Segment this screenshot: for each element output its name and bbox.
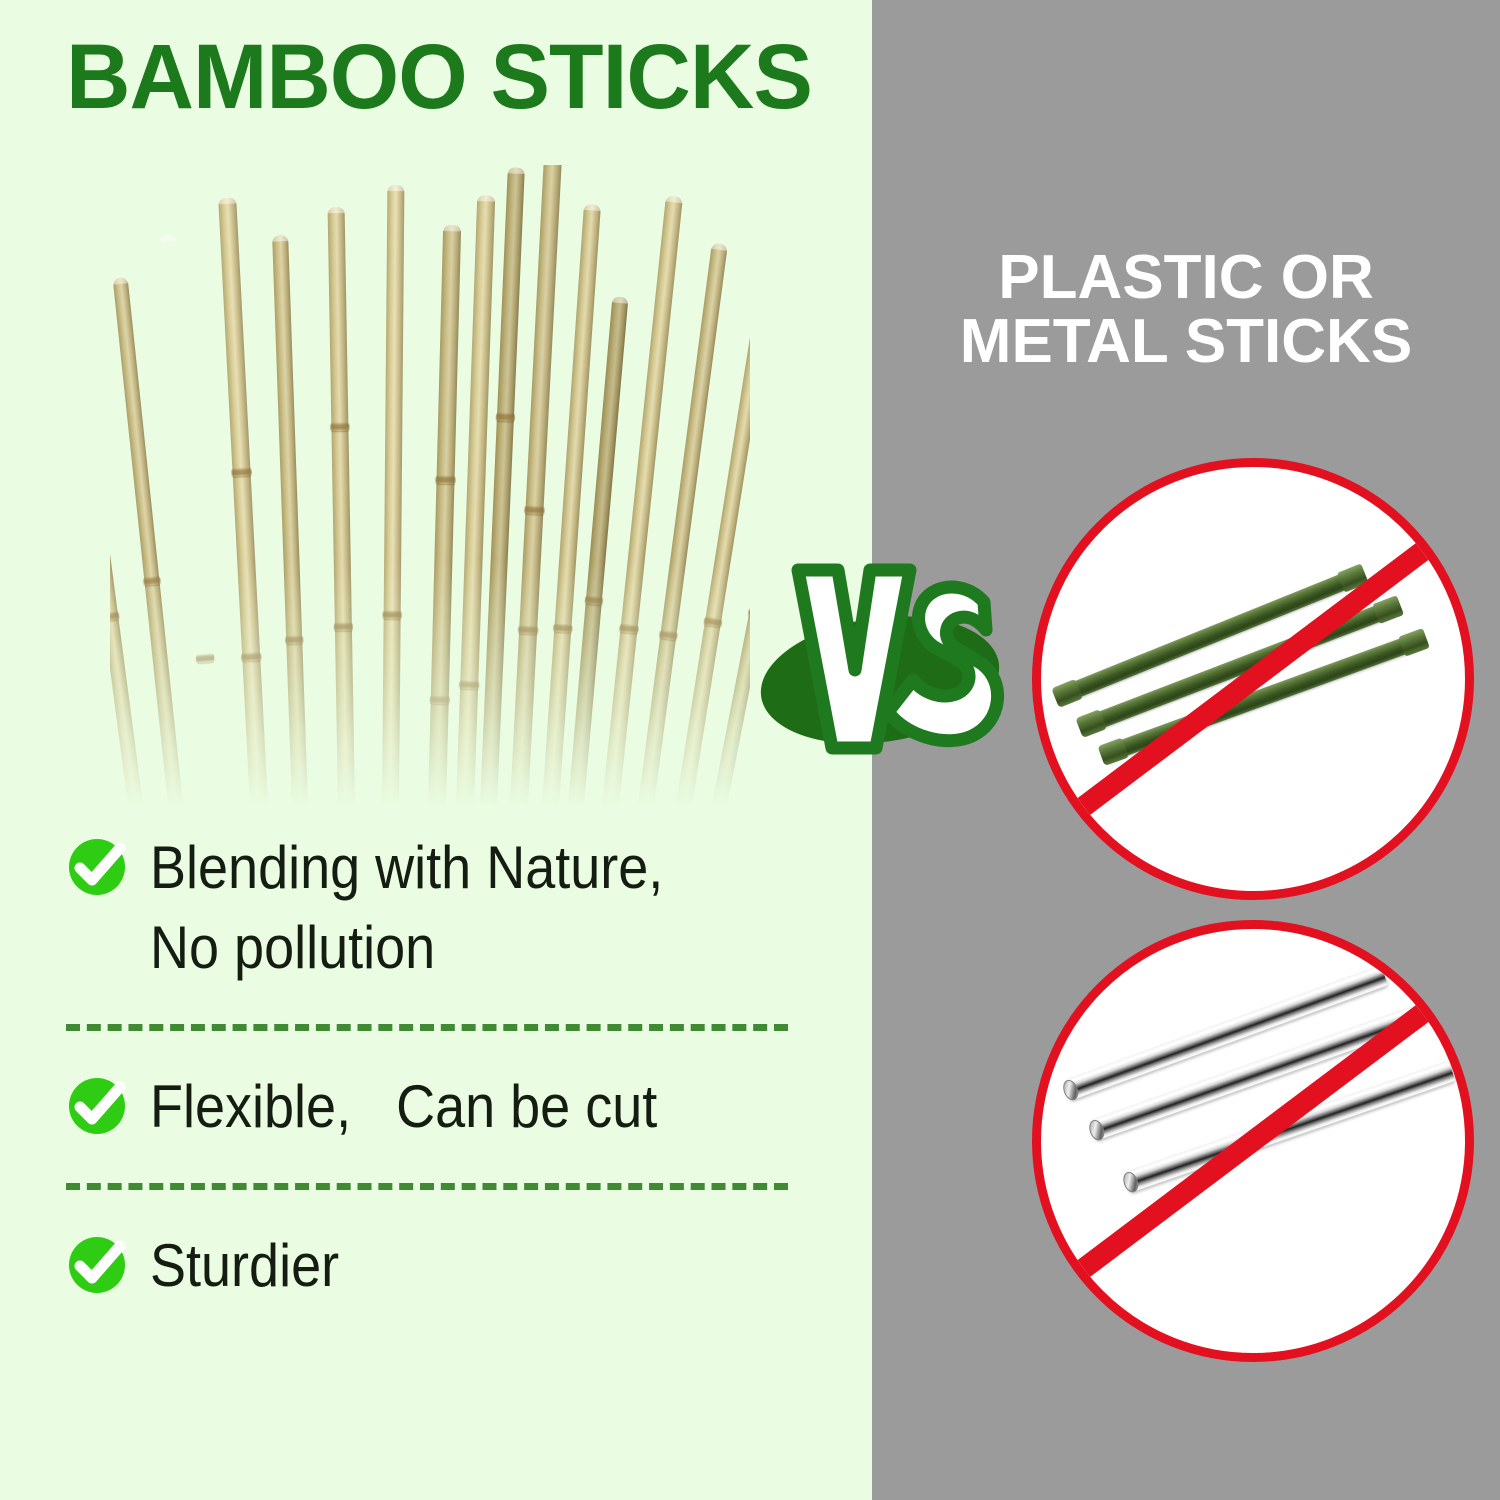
feature-item-sturdier: Sturdier xyxy=(66,1226,826,1306)
green-check-circle-icon xyxy=(66,1232,128,1294)
feature-item-blending-with-nature: Blending with Nature, No pollution xyxy=(66,828,826,988)
feature-divider-1 xyxy=(66,1024,788,1031)
feature-list: Blending with Nature, No pollution Flexi… xyxy=(66,828,826,1306)
feature-label: Blending with Nature, No pollution xyxy=(150,828,663,988)
title-line-1: PLASTIC OR xyxy=(880,246,1492,310)
forbidden-plastic-stakes-badge xyxy=(1032,458,1474,900)
page-title-plastic-metal: PLASTIC OR METAL STICKS xyxy=(880,246,1492,374)
feature-divider-2 xyxy=(66,1183,788,1190)
title-line-2: METAL STICKS xyxy=(880,310,1492,374)
feature-label: Sturdier xyxy=(150,1226,339,1306)
page-title-bamboo: BAMBOO STICKS xyxy=(66,28,823,126)
feature-item-flexible-can-be-cut: Flexible, Can be cut xyxy=(66,1067,826,1147)
bamboo-sticks-image xyxy=(110,165,750,805)
forbidden-metal-tubes-badge xyxy=(1032,920,1474,1362)
comparison-infographic: BAMBOO STICKS xyxy=(0,0,1500,1500)
feature-label: Flexible, Can be cut xyxy=(150,1067,657,1147)
green-check-circle-icon xyxy=(66,834,128,896)
versus-badge-icon xyxy=(758,552,1013,767)
versus-badge xyxy=(758,552,1013,767)
green-check-circle-icon xyxy=(66,1073,128,1135)
